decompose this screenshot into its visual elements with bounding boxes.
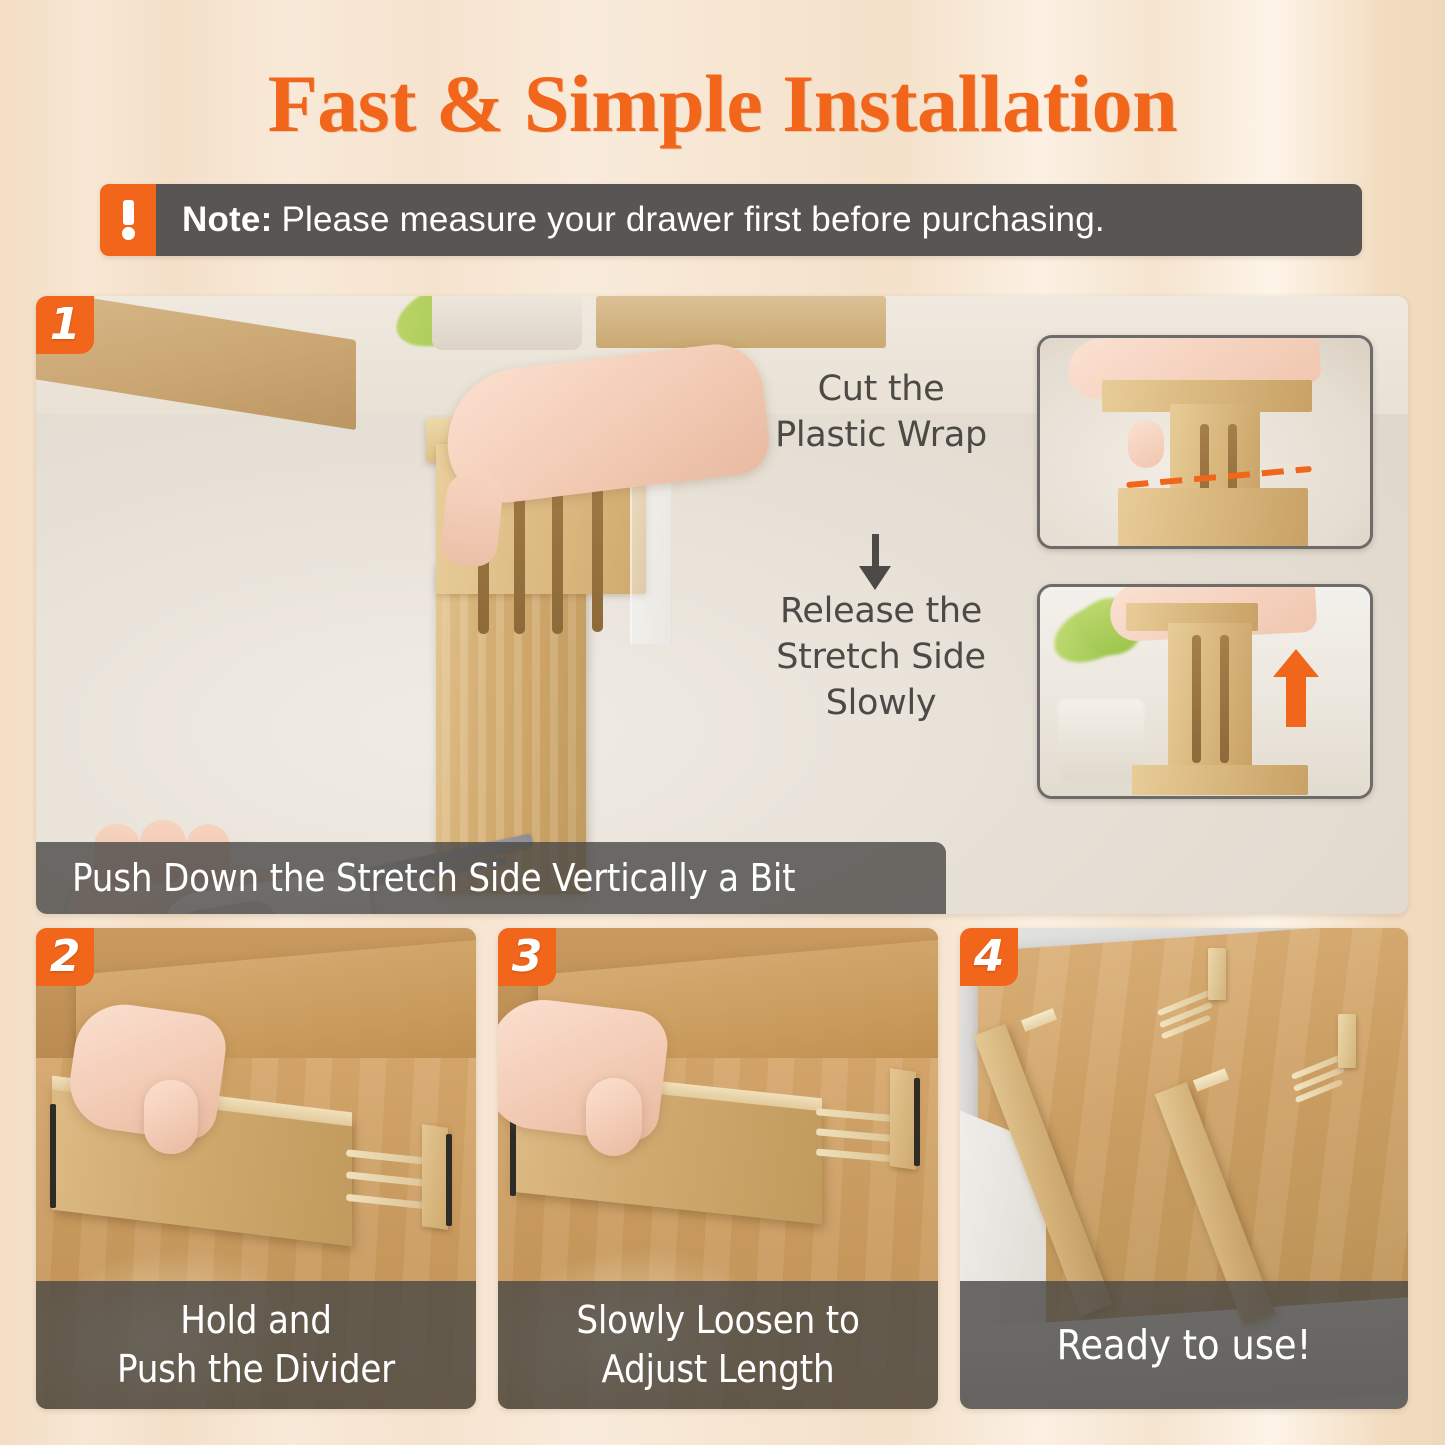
step-number-badge-1: 1 [36,296,94,354]
step-4-caption: Ready to use! [960,1281,1408,1409]
annotation-line: Slowly [736,680,1026,726]
page-title: Fast & Simple Installation [0,58,1445,150]
caption-line: Hold and [117,1296,395,1345]
step-4-panel: 4 Ready to use! [960,928,1408,1409]
note-bar: Note: Please measure your drawer first b… [100,184,1362,256]
cut-plastic-wrap-inset [1037,335,1373,549]
infographic-page: Fast & Simple Installation Note: Please … [0,0,1445,1445]
note-text-container: Note: Please measure your drawer first b… [156,184,1362,256]
step-1-caption: Push Down the Stretch Side Vertically a … [36,842,946,914]
annotation-cut-plastic-wrap: Cut the Plastic Wrap [736,366,1026,458]
release-stretch-side-inset [1037,584,1373,799]
annotation-release-stretch-side: Release the Stretch Side Slowly [736,588,1026,726]
caption-line: Ready to use! [1057,1321,1312,1370]
step-1-panel: 1 Cut the Plastic Wrap Release the Stret… [36,296,1408,914]
annotation-line: Plastic Wrap [736,412,1026,458]
step-2-panel: 2 Hold and Push the Divider [36,928,476,1409]
step-number-badge-4: 4 [960,928,1018,986]
caption-line: Adjust Length [576,1345,859,1394]
step-number-badge-3: 3 [498,928,556,986]
step-3-panel: 3 Slowly Loosen to Adjust Length [498,928,938,1409]
step-2-caption: Hold and Push the Divider [36,1281,476,1409]
caption-line: Slowly Loosen to [576,1296,859,1345]
step-3-caption: Slowly Loosen to Adjust Length [498,1281,938,1409]
annotation-line: Stretch Side [736,634,1026,680]
caption-line: Push the Divider [117,1345,395,1394]
note-label: Note: [182,200,272,240]
exclamation-icon [100,184,156,256]
step-number-badge-2: 2 [36,928,94,986]
orange-up-arrow-icon [1286,673,1306,727]
annotation-line: Release the [736,588,1026,634]
note-message: Please measure your drawer first before … [281,200,1104,240]
annotation-line: Cut the [736,366,1026,412]
